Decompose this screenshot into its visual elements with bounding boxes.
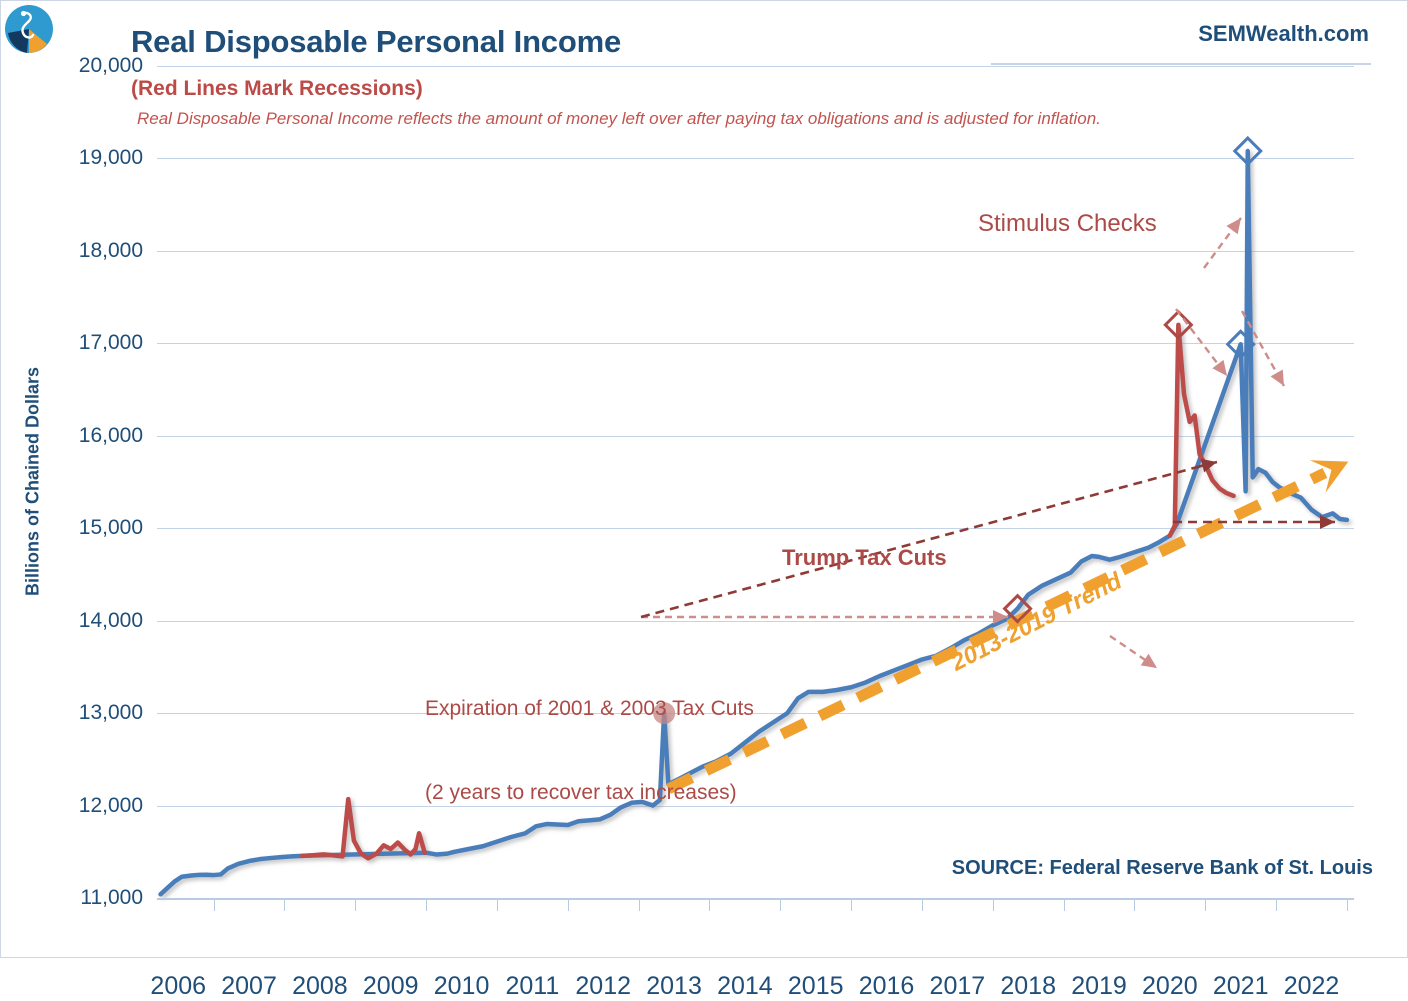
x-axis-tick-mark bbox=[426, 898, 427, 911]
x-axis-tick-label: 2009 bbox=[363, 972, 419, 1001]
y-axis-title: Billions of Chained Dollars bbox=[23, 262, 44, 702]
y-axis-tick-label: 20,000 bbox=[79, 54, 143, 78]
source-label: SOURCE: Federal Reserve Bank of St. Loui… bbox=[952, 857, 1373, 880]
x-axis-tick-label: 2011 bbox=[505, 972, 559, 1001]
trump-tax-cuts-annotation: Trump Tax Cuts bbox=[782, 545, 947, 571]
x-axis-tick-mark bbox=[780, 898, 781, 911]
y-axis-tick-label: 11,000 bbox=[80, 886, 143, 910]
y-axis-tick-label: 17,000 bbox=[79, 331, 143, 355]
x-axis-tick-label: 2020 bbox=[1142, 972, 1198, 1001]
y-axis-tick-label: 13,000 bbox=[79, 701, 143, 725]
stimulus-leader-2-head bbox=[1212, 360, 1227, 376]
x-axis-tick-mark bbox=[568, 898, 569, 911]
x-axis-tick-mark bbox=[1134, 898, 1135, 911]
x-axis-tick-mark bbox=[497, 898, 498, 911]
x-axis-tick-mark bbox=[1276, 898, 1277, 911]
x-axis-tick-label: 2008 bbox=[292, 972, 348, 1001]
trump-leader-head bbox=[1141, 654, 1157, 668]
page-title: Real Disposable Personal Income bbox=[131, 24, 621, 60]
x-axis-tick-label: 2014 bbox=[717, 972, 773, 1001]
x-axis-tick-label: 2016 bbox=[859, 972, 915, 1001]
y-axis-tick-label: 15,000 bbox=[79, 516, 143, 540]
series-line-recession-2 bbox=[1170, 325, 1234, 536]
x-axis-tick-label: 2013 bbox=[646, 972, 702, 1001]
x-axis-tick-mark bbox=[214, 898, 215, 911]
x-axis-tick-mark bbox=[355, 898, 356, 911]
x-axis-tick-label: 2015 bbox=[788, 972, 844, 1001]
x-axis-tick-mark bbox=[922, 898, 923, 911]
series-line-recession-1 bbox=[302, 799, 425, 858]
y-axis-tick-label: 18,000 bbox=[79, 239, 143, 263]
x-axis-tick-mark bbox=[993, 898, 994, 911]
x-axis-tick-label: 2019 bbox=[1071, 972, 1127, 1001]
brand-label: SEMWealth.com bbox=[1198, 21, 1369, 47]
x-axis-tick-label: 2017 bbox=[930, 972, 986, 1001]
y-axis-tick-label: 16,000 bbox=[79, 424, 143, 448]
data-series-layer bbox=[157, 66, 1354, 898]
x-axis-tick-label: 2021 bbox=[1213, 972, 1269, 1001]
x-axis-tick-mark bbox=[1205, 898, 1206, 911]
x-axis-tick-label: 2012 bbox=[575, 972, 631, 1001]
x-axis-line bbox=[157, 898, 1354, 900]
expiration-line-2: (2 years to recover tax increases) bbox=[425, 779, 754, 807]
chart-canvas: Real Disposable Personal Income (Red Lin… bbox=[0, 0, 1408, 958]
x-axis-tick-mark bbox=[1347, 898, 1348, 911]
brand-divider bbox=[991, 63, 1371, 65]
y-axis-tick-label: 12,000 bbox=[79, 794, 143, 818]
x-axis-tick-mark bbox=[851, 898, 852, 911]
stimulus-leader-1-head bbox=[1226, 218, 1241, 234]
x-axis-tick-mark bbox=[639, 898, 640, 911]
x-axis-tick-label: 2007 bbox=[221, 972, 277, 1001]
expiration-line-1: Expiration of 2001 & 2003 Tax Cuts bbox=[425, 695, 754, 723]
x-axis-tick-mark bbox=[284, 898, 285, 911]
expiration-tax-cuts-annotation: Expiration of 2001 & 2003 Tax Cuts (2 ye… bbox=[425, 639, 754, 863]
sem-circle-logo-icon bbox=[3, 3, 55, 55]
y-axis-tick-label: 14,000 bbox=[79, 609, 143, 633]
x-axis-tick-mark bbox=[1064, 898, 1065, 911]
x-axis-tick-label: 2022 bbox=[1284, 972, 1340, 1001]
stimulus-leader-3-head bbox=[1271, 369, 1284, 386]
x-axis-tick-label: 2018 bbox=[1000, 972, 1056, 1001]
y-axis-tick-label: 19,000 bbox=[79, 146, 143, 170]
x-axis-tick-label: 2010 bbox=[434, 972, 490, 1001]
stimulus-checks-annotation: Stimulus Checks bbox=[978, 210, 1157, 238]
x-axis-tick-mark bbox=[709, 898, 710, 911]
x-axis-tick-label: 2006 bbox=[150, 972, 206, 1001]
plot-area: 20,00019,00018,00017,00016,00015,00014,0… bbox=[157, 66, 1354, 898]
